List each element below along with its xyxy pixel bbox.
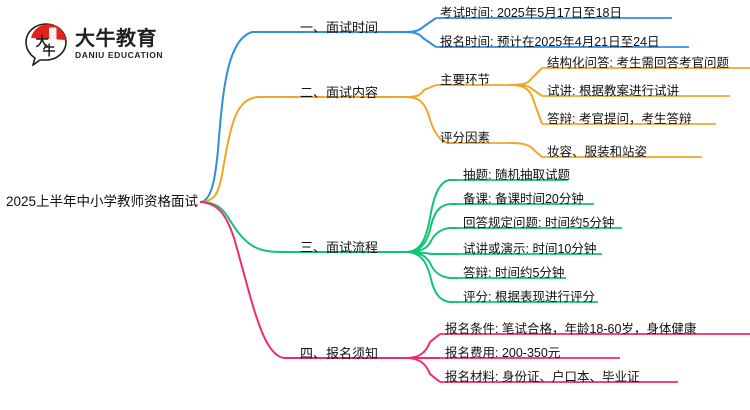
branch-1-leaf-2[interactable]: 报名时间: 预计在2025年4月21日至24日 <box>440 36 660 49</box>
branch-4-label[interactable]: 四、报名须知 <box>300 347 378 360</box>
brand-text: 大牛教育 DANIU EDUCATION <box>75 29 163 60</box>
mindmap-canvas: 大 牛 大牛教育 DANIU EDUCATION <box>0 0 750 410</box>
branch-4-leaf-3[interactable]: 报名材料: 身份证、户口本、毕业证 <box>445 371 639 384</box>
branch-4-leaf-1[interactable]: 报名条件: 笔试合格，年龄18-60岁，身体健康 <box>445 323 696 336</box>
branch-2-group-1-label[interactable]: 主要环节 <box>440 74 490 87</box>
branch-3-leaf-2[interactable]: 备课: 备课时间20分钟 <box>463 193 584 206</box>
svg-text:牛: 牛 <box>42 43 55 58</box>
branch-3-leaf-6[interactable]: 评分: 根据表现进行评分 <box>463 291 595 304</box>
branch-1-leaf-1[interactable]: 考试时间: 2025年5月17日至18日 <box>440 7 622 20</box>
branch-1-label[interactable]: 一、面试时间 <box>300 21 378 34</box>
brand-name-en: DANIU EDUCATION <box>75 51 163 60</box>
branch-3-label[interactable]: 三、面试流程 <box>300 241 378 254</box>
branch-3-leaf-3[interactable]: 回答规定问题: 时间约5分钟 <box>463 217 614 230</box>
branch-2-group-2-label[interactable]: 评分因素 <box>440 132 490 145</box>
branch-2-label[interactable]: 二、面试内容 <box>300 86 378 99</box>
branch-4-leaf-2[interactable]: 报名费用: 200-350元 <box>445 347 560 360</box>
branch-2-group-2-leaf-1[interactable]: 妆容、服装和站姿 <box>547 146 647 159</box>
branch-3-leaf-1[interactable]: 抽题: 随机抽取试题 <box>463 169 570 182</box>
branch-2-group-1-leaf-3[interactable]: 答辩: 考官提问，考生答辩 <box>547 113 691 126</box>
branch-2-group-1-leaf-2[interactable]: 试讲: 根据教案进行试讲 <box>547 85 679 98</box>
branch-2-group-1-leaf-1[interactable]: 结构化问答: 考生需回答考官问题 <box>547 57 729 70</box>
root-node-label[interactable]: 2025上半年中小学教师资格面试 <box>6 195 198 209</box>
daniu-speech-bubble-icon: 大 牛 <box>24 22 68 66</box>
brand-logo: 大 牛 大牛教育 DANIU EDUCATION <box>24 20 184 68</box>
branch-3-leaf-4[interactable]: 试讲或演示: 时间10分钟 <box>463 243 596 256</box>
brand-name-cn: 大牛教育 <box>75 29 163 49</box>
branch-3-leaf-5[interactable]: 答辩: 时间约5分钟 <box>463 267 564 280</box>
